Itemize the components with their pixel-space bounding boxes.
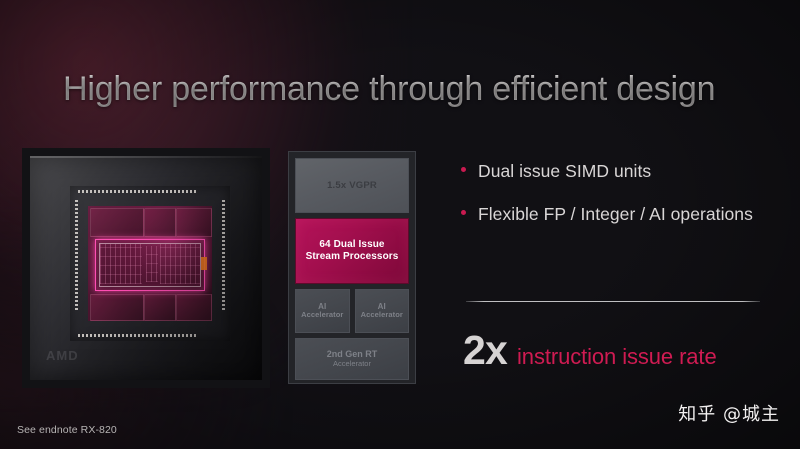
compute-unit-block-diagram: 1.5x VGPR 64 Dual Issue Stream Processor… <box>288 151 416 384</box>
bullet-dot-icon <box>461 167 466 172</box>
block-rt-accelerator: 2nd Gen RT Accelerator <box>295 338 409 380</box>
block-vgpr: 1.5x VGPR <box>295 158 409 213</box>
block-ai-accelerator-2-line2: Accelerator <box>361 311 403 320</box>
slide-title: Higher performance through efficient des… <box>63 70 715 109</box>
block-ai-accelerator-1: AI Accelerator <box>295 289 350 333</box>
bullet-item-0-text: Dual issue SIMD units <box>478 161 651 181</box>
bullet-item-0: Dual issue SIMD units <box>458 160 778 183</box>
gpu-die-photo: AMD <box>22 148 270 388</box>
block-ai-accelerator-row: AI Accelerator AI Accelerator <box>295 289 409 333</box>
chip-package: AMD <box>30 156 262 380</box>
block-stream-processors-line1: 64 Dual Issue <box>319 239 384 251</box>
bullet-dot-icon <box>461 210 466 215</box>
watermark: 知乎 @城主 <box>678 400 780 426</box>
section-divider <box>466 301 760 302</box>
endnote-text: See endnote RX-820 <box>17 424 117 436</box>
stat-label: instruction issue rate <box>517 346 717 368</box>
block-rt-accelerator-line2: Accelerator <box>333 360 371 369</box>
block-stream-processors: 64 Dual Issue Stream Processors <box>295 218 409 284</box>
slide-root: Higher performance through efficient des… <box>0 0 800 449</box>
bullet-list: Dual issue SIMD units Flexible FP / Inte… <box>458 160 778 247</box>
bullet-item-1-text: Flexible FP / Integer / AI operations <box>478 204 753 224</box>
block-stream-processors-line2: Stream Processors <box>306 251 399 263</box>
block-vgpr-label: 1.5x VGPR <box>327 180 377 191</box>
stat-callout: 2x instruction issue rate <box>463 330 717 371</box>
stat-value: 2x <box>463 330 507 371</box>
block-ai-accelerator-2: AI Accelerator <box>355 289 410 333</box>
chip-package-sheen <box>30 156 262 380</box>
bullet-item-1: Flexible FP / Integer / AI operations <box>458 203 778 226</box>
block-ai-accelerator-1-line2: Accelerator <box>301 311 343 320</box>
